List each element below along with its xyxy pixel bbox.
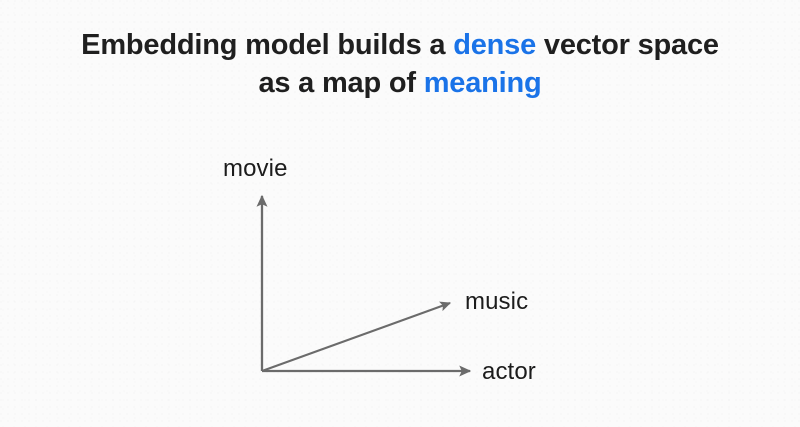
title-highlight-meaning: meaning: [424, 67, 542, 99]
slide-canvas: Embedding model builds a dense vector sp…: [0, 0, 800, 427]
axis-label-movie: movie: [223, 155, 288, 183]
title-highlight-dense: dense: [453, 29, 536, 61]
axis-label-actor: actor: [482, 358, 536, 386]
axis-line-music: [262, 303, 450, 371]
title-line-2: as a map of meaning: [0, 64, 800, 102]
title-line-2-text-before: as a map of: [258, 67, 423, 99]
axis-label-music: music: [465, 288, 528, 316]
title-line-1-text-after: vector space: [536, 29, 719, 61]
slide-title: Embedding model builds a dense vector sp…: [0, 26, 800, 102]
title-line-1-text-before: Embedding model builds a: [81, 29, 453, 61]
title-line-1: Embedding model builds a dense vector sp…: [0, 26, 800, 64]
